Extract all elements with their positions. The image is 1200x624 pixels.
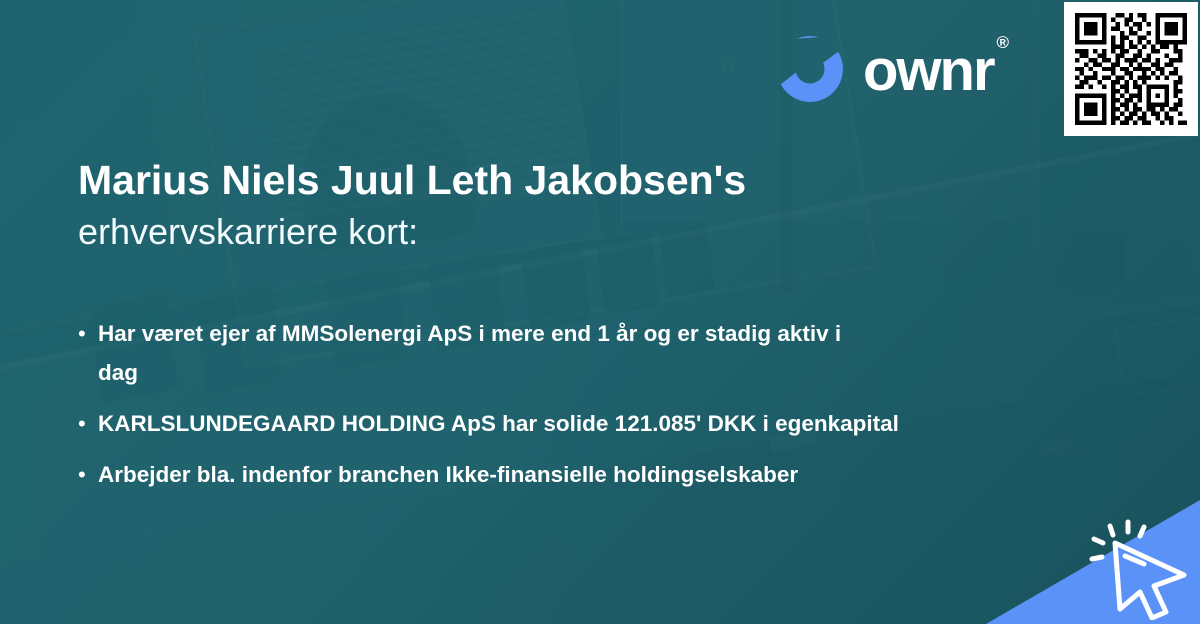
career-card: ownr ® (0, 0, 1200, 624)
ownr-wordmark: ownr (863, 42, 994, 100)
ownr-logo[interactable]: ownr ® (777, 36, 1006, 102)
list-item-text: KARLSLUNDEGAARD HOLDING ApS har solide 1… (98, 404, 899, 443)
career-highlights-list: • Har været ejer af MMSolenergi ApS i me… (78, 314, 1078, 506)
list-item-text: Arbejder bla. indenfor branchen Ikke-fin… (98, 455, 798, 494)
bullet-marker-icon: • (78, 455, 98, 494)
list-item: • KARLSLUNDEGAARD HOLDING ApS har solide… (78, 404, 1078, 443)
ownr-circle-logo-icon (777, 36, 843, 102)
page-subtitle: erhvervskarriere kort: (78, 211, 418, 253)
registered-trademark-mark: ® (997, 33, 1010, 53)
qr-code-icon (1075, 13, 1187, 125)
list-item-text: Har været ejer af MMSolenergi ApS i mere… (98, 314, 858, 392)
qr-code[interactable] (1064, 2, 1198, 136)
bullet-marker-icon: • (78, 404, 98, 443)
list-item: • Har været ejer af MMSolenergi ApS i me… (78, 314, 1078, 392)
page-title: Marius Niels Juul Leth Jakobsen's (78, 157, 746, 204)
bullet-marker-icon: • (78, 314, 98, 392)
click-cursor-icon (1086, 516, 1192, 620)
list-item: • Arbejder bla. indenfor branchen Ikke-f… (78, 455, 1078, 494)
